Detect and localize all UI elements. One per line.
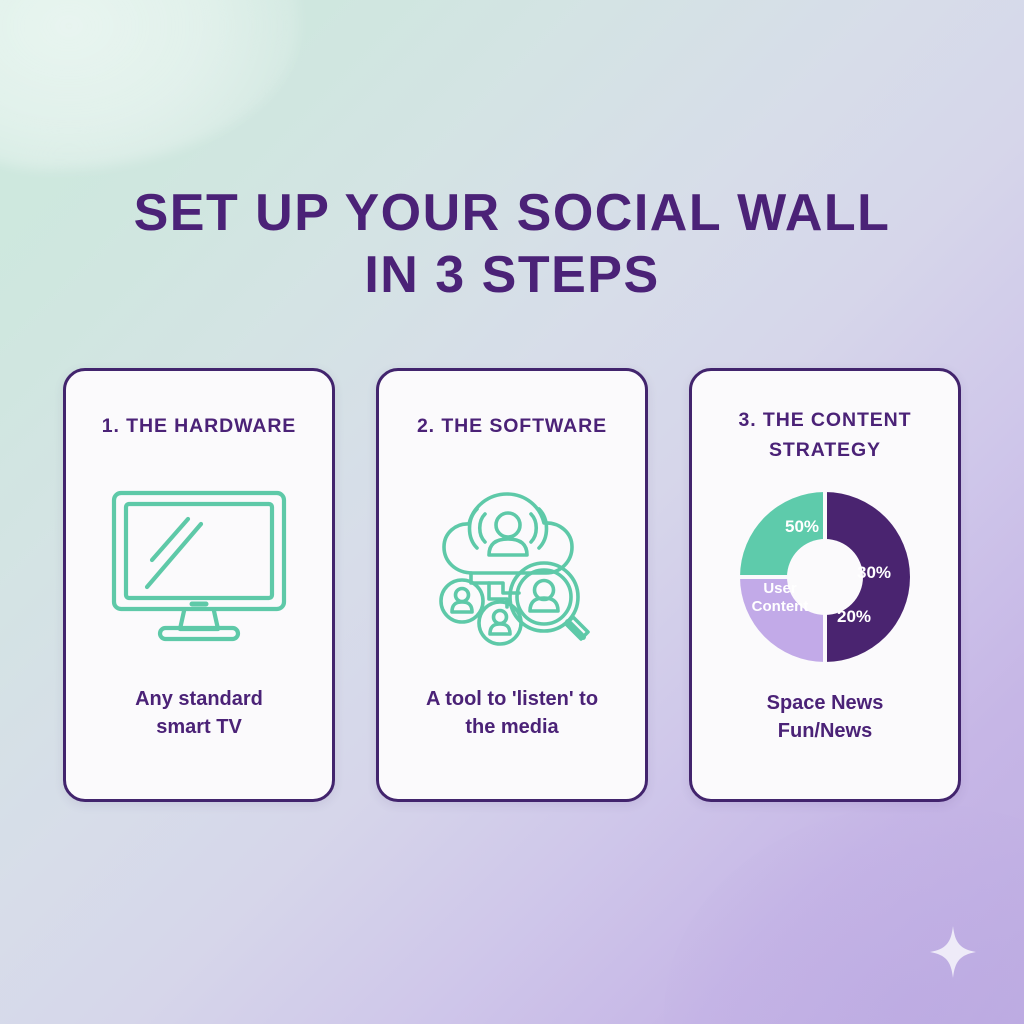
background-blob-bottom-right <box>664 804 1024 1024</box>
step-card-artwork <box>393 441 631 685</box>
sparkle-star-icon <box>930 926 976 978</box>
step-card-heading: 2. THE SOFTWARE <box>417 411 607 441</box>
step-card-caption: Any standard smart TV <box>135 685 263 741</box>
donut-chart-svg <box>732 484 918 670</box>
step-card-hardware[interactable]: 1. THE HARDWARE Any standard smart TV <box>63 368 335 802</box>
tv-monitor-icon <box>106 483 292 643</box>
donut-hole <box>787 539 863 615</box>
step-card-artwork <box>80 441 318 685</box>
title-line-2: IN 3 STEPS <box>0 244 1024 306</box>
title-line-1: SET UP YOUR SOCIAL WALL <box>0 182 1024 244</box>
step-card-heading: 3. THE CONTENT STRATEGY <box>739 405 912 465</box>
step-card-caption: A tool to 'listen' to the media <box>426 685 598 741</box>
step-card-caption: Space News Fun/News <box>767 689 884 745</box>
page-title: SET UP YOUR SOCIAL WALL IN 3 STEPS <box>0 182 1024 306</box>
step-card-content-strategy[interactable]: 3. THE CONTENT STRATEGY <box>689 368 961 802</box>
background-blob-top-left <box>0 0 300 170</box>
content-strategy-donut-chart: 50% 30% 20% User Content <box>732 484 918 670</box>
cloud-social-listening-icon <box>427 481 597 646</box>
infographic-poster: SET UP YOUR SOCIAL WALL IN 3 STEPS 1. TH… <box>0 0 1024 1024</box>
step-card-heading: 1. THE HARDWARE <box>102 411 296 441</box>
step-card-software[interactable]: 2. THE SOFTWARE <box>376 368 648 802</box>
steps-card-row: 1. THE HARDWARE Any standard smart TV <box>63 368 961 802</box>
step-card-artwork: 50% 30% 20% User Content <box>706 465 944 689</box>
